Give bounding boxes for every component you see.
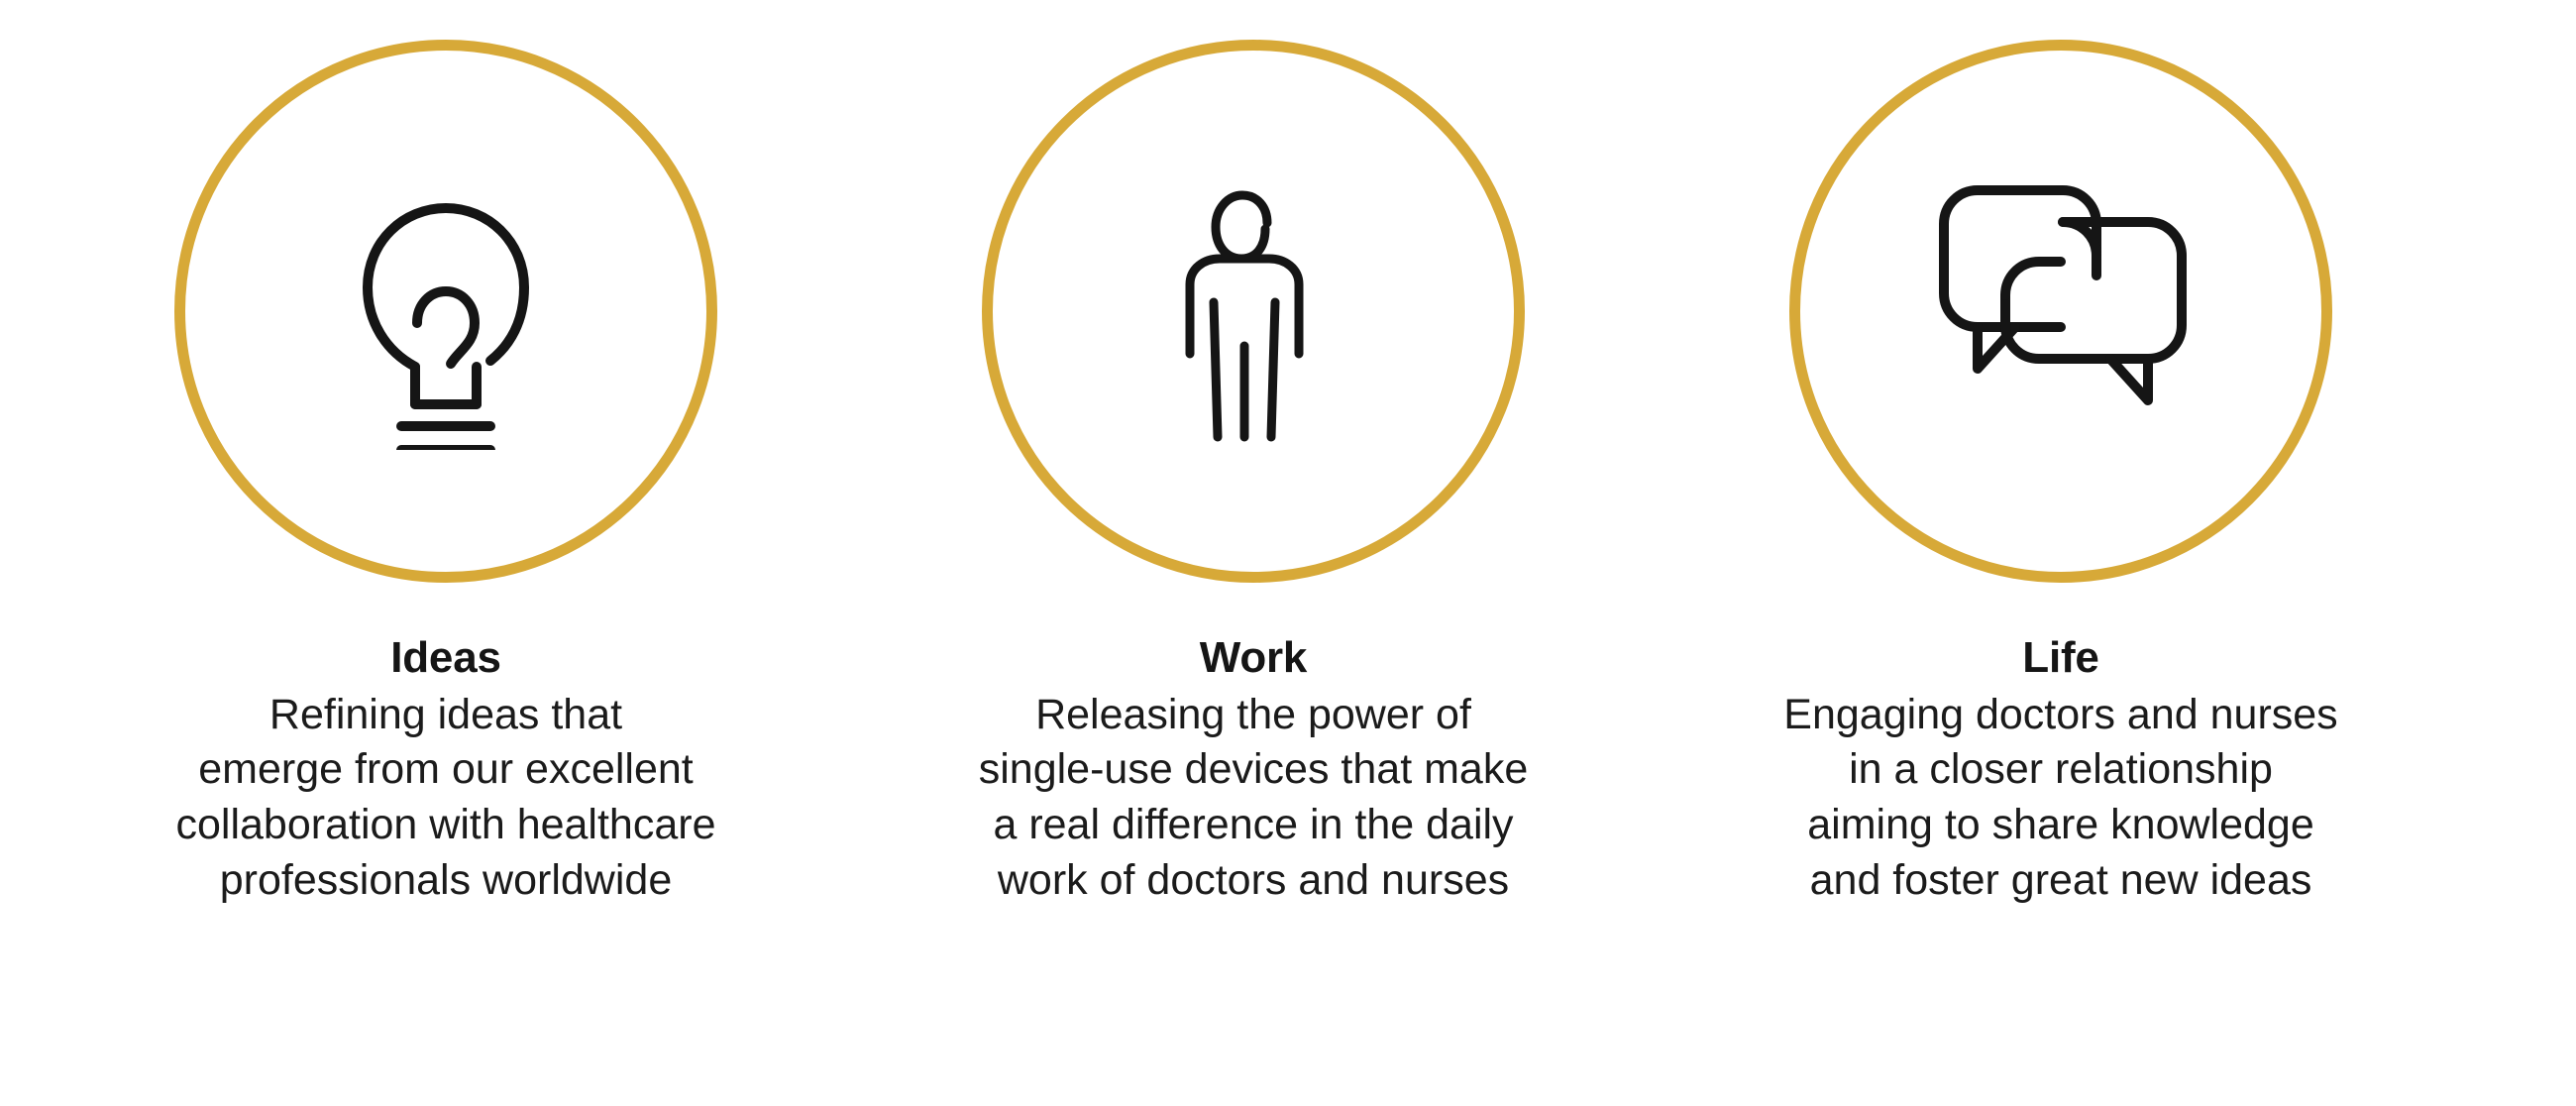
feature-body: Releasing the power of single-use device… bbox=[867, 688, 1640, 910]
caption-life: Life Engaging doctors and nurses in a cl… bbox=[1674, 634, 2447, 909]
feature-body: Refining ideas that emerge from our exce… bbox=[59, 688, 832, 910]
person-standing-icon bbox=[1174, 167, 1333, 455]
icon-circle-work bbox=[982, 40, 1525, 583]
caption-ideas: Ideas Refining ideas that emerge from ou… bbox=[59, 634, 832, 909]
feature-title: Work bbox=[867, 634, 1640, 682]
feature-title: Ideas bbox=[59, 634, 832, 682]
feature-columns: Ideas Refining ideas that emerge from ou… bbox=[0, 0, 2576, 909]
feature-body: Engaging doctors and nurses in a closer … bbox=[1674, 688, 2447, 910]
feature-title: Life bbox=[1674, 634, 2447, 682]
feature-column-ideas: Ideas Refining ideas that emerge from ou… bbox=[50, 40, 842, 909]
icon-circle-ideas bbox=[174, 40, 717, 583]
icon-circle-life bbox=[1789, 40, 2332, 583]
feature-trio-panel: Ideas Refining ideas that emerge from ou… bbox=[0, 0, 2576, 1106]
feature-column-life: Life Engaging doctors and nurses in a cl… bbox=[1664, 40, 2457, 909]
speech-bubbles-icon bbox=[1912, 180, 2209, 443]
feature-column-work: Work Releasing the power of single-use d… bbox=[857, 40, 1650, 909]
lightbulb-icon bbox=[332, 172, 560, 450]
caption-work: Work Releasing the power of single-use d… bbox=[867, 634, 1640, 909]
